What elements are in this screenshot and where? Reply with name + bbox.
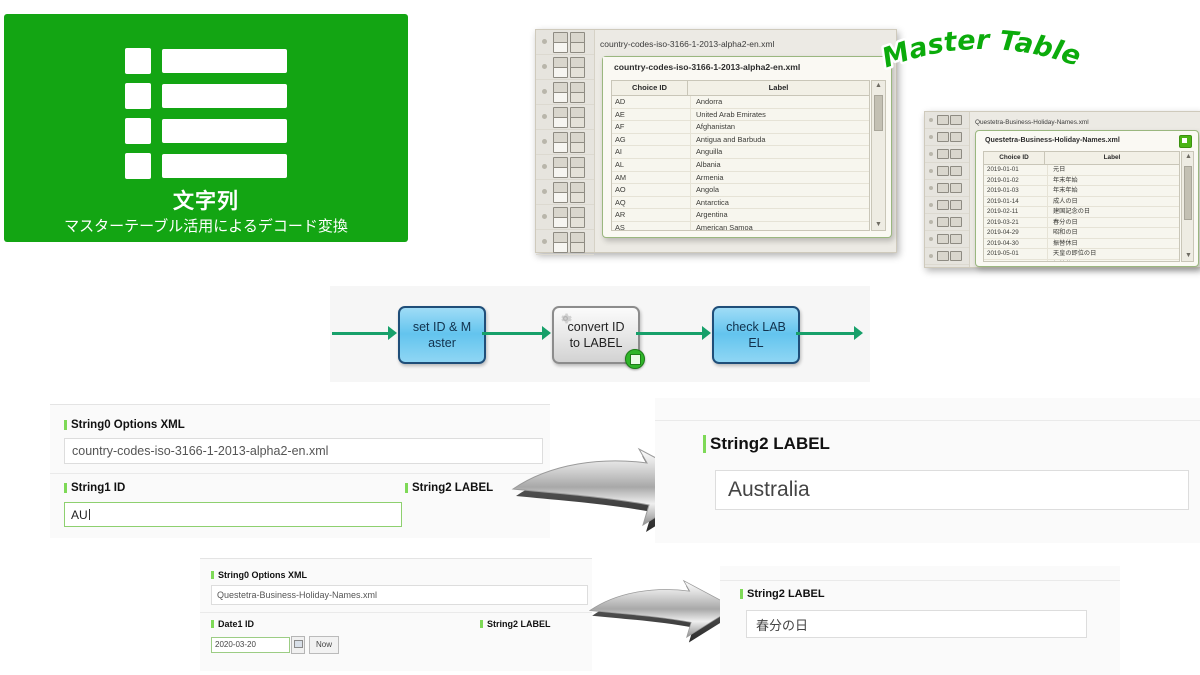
cell-choice-id: AG xyxy=(612,134,691,146)
country-result-panel: String2 LABEL Australia xyxy=(655,398,1200,543)
cell-label: Angola xyxy=(691,184,869,196)
workflow-node-convert-id-to-label[interactable]: convert ID to LABEL xyxy=(552,306,640,364)
now-button[interactable]: Now xyxy=(309,636,339,654)
workflow-node-check-label[interactable]: check LAB EL xyxy=(712,306,800,364)
list-icon xyxy=(125,48,287,188)
table-row[interactable]: AGAntigua and Barbuda xyxy=(612,134,869,147)
cell-label: 振替休日 xyxy=(1048,260,1179,263)
cell-choice-id: AM xyxy=(612,172,691,184)
transform-arrow-icon xyxy=(578,574,738,644)
cell-choice-id: 2019-01-02 xyxy=(984,176,1048,186)
cell-label: Armenia xyxy=(691,172,869,184)
holiday-form-panel: String0 Options XML Questetra-Business-H… xyxy=(200,558,592,671)
cell-choice-id: AD xyxy=(612,96,691,108)
result-string2-value: Australia xyxy=(715,470,1189,510)
result-string2-label: String2 LABEL xyxy=(703,434,830,454)
cell-label: Antarctica xyxy=(691,197,869,209)
node-label-line2: to LABEL xyxy=(554,335,638,351)
cell-label: 振替休日 xyxy=(1048,239,1179,249)
column-header-label: Label xyxy=(688,81,869,95)
cell-label: 元日 xyxy=(1048,165,1179,175)
icon-gutter xyxy=(925,112,970,267)
country-popup-title: country-codes-iso-3166-1-2013-alpha2-en.… xyxy=(603,57,891,78)
cell-label: American Samoa xyxy=(691,222,869,231)
workflow-diagram: set ID & M aster convert ID to LABEL che… xyxy=(330,286,870,382)
cell-label: Antigua and Barbuda xyxy=(691,134,869,146)
table-header-row: Choice ID Label xyxy=(984,152,1179,165)
holiday-names-window: Questetra-Business-Holiday-Names.xml Que… xyxy=(924,111,1200,268)
close-icon[interactable] xyxy=(1179,135,1192,148)
string1-id-input[interactable]: AU xyxy=(64,502,402,527)
cell-choice-id: AQ xyxy=(612,197,691,209)
table-row[interactable]: 2019-04-29昭和の日 xyxy=(984,228,1179,239)
node-label-line1: check LAB xyxy=(714,319,798,335)
date1-id-input[interactable]: 2020-03-20 xyxy=(211,637,290,653)
options-xml-value: Questetra-Business-Holiday-Names.xml xyxy=(211,585,588,605)
column-header-choice-id: Choice ID xyxy=(984,152,1045,164)
holiday-names-popup: Questetra-Business-Holiday-Names.xml Cho… xyxy=(975,130,1199,267)
table-row[interactable]: 2019-05-01天皇の即位の日 xyxy=(984,249,1179,260)
table-row[interactable]: ARArgentina xyxy=(612,209,869,222)
table-row[interactable]: 2019-01-01元日 xyxy=(984,165,1179,176)
cell-choice-id: AO xyxy=(612,184,691,196)
table-row[interactable]: 2019-01-02年末年始 xyxy=(984,176,1179,187)
holiday-window-title: Questetra-Business-Holiday-Names.xml xyxy=(971,115,1197,130)
cell-choice-id: 2019-04-30 xyxy=(984,239,1048,249)
table-row[interactable]: AIAnguilla xyxy=(612,146,869,159)
string2-label-label: String2 LABEL xyxy=(405,482,493,494)
table-row[interactable]: ASAmerican Samoa xyxy=(612,222,869,231)
table-row[interactable]: AMArmenia xyxy=(612,172,869,185)
cell-choice-id: 2019-05-01 xyxy=(984,249,1048,259)
workflow-node-set-id-master[interactable]: set ID & M aster xyxy=(398,306,486,364)
hero-panel: 文字列 マスターテーブル活用によるデコード変換 xyxy=(4,14,408,242)
table-row[interactable]: 2019-04-30振替休日 xyxy=(984,239,1179,250)
cell-label: 天皇の即位の日 xyxy=(1048,249,1179,259)
calendar-icon[interactable] xyxy=(291,636,305,654)
table-row[interactable]: AEUnited Arab Emirates xyxy=(612,109,869,122)
hero-title: 文字列 xyxy=(4,185,408,215)
table-row[interactable]: ADAndorra xyxy=(612,96,869,109)
country-window-title: country-codes-iso-3166-1-2013-alpha2-en.… xyxy=(596,34,892,54)
node-label-line2: EL xyxy=(714,335,798,351)
country-codes-table: Choice ID Label ADAndorraAEUnited Arab E… xyxy=(611,80,870,231)
cell-choice-id: AR xyxy=(612,209,691,221)
table-row[interactable]: 2019-02-11建国記念の日 xyxy=(984,207,1179,218)
holiday-popup-title: Questetra-Business-Holiday-Names.xml xyxy=(976,131,1198,149)
date1-id-field[interactable]: 2020-03-20 Now xyxy=(211,636,339,654)
service-task-badge-icon xyxy=(625,349,645,369)
cell-choice-id: 2019-01-14 xyxy=(984,197,1048,207)
holiday-names-table: Choice ID Label 2019-01-01元日2019-01-02年末… xyxy=(983,151,1180,262)
table-row[interactable]: 2019-05-02振替休日 xyxy=(984,260,1179,263)
cell-label: Andorra xyxy=(691,96,869,108)
master-table-annotation: Master Table xyxy=(882,24,1092,90)
cell-label: 年末年始 xyxy=(1048,186,1179,196)
country-codes-popup: country-codes-iso-3166-1-2013-alpha2-en.… xyxy=(602,56,892,238)
string2-label-label: String2 LABEL xyxy=(480,619,551,629)
options-xml-label: String0 Options XML xyxy=(64,419,185,431)
node-label-line2: aster xyxy=(400,335,484,351)
node-label-line1: set ID & M xyxy=(400,319,484,335)
cell-choice-id: AL xyxy=(612,159,691,171)
hero-subtitle: マスターテーブル活用によるデコード変換 xyxy=(4,215,408,236)
table-row[interactable]: AOAngola xyxy=(612,184,869,197)
options-xml-label: String0 Options XML xyxy=(211,570,307,580)
string1-id-label: String1 ID xyxy=(64,482,125,494)
date1-id-label: Date1 ID xyxy=(211,619,254,629)
table-row[interactable]: 2019-01-03年末年始 xyxy=(984,186,1179,197)
cell-label: Albania xyxy=(691,159,869,171)
holiday-table-scrollbar[interactable]: ▲▼ xyxy=(1181,151,1194,262)
table-row[interactable]: 2019-01-14成人の日 xyxy=(984,197,1179,208)
svg-text:Master Table: Master Table xyxy=(878,25,1084,74)
cell-choice-id: AE xyxy=(612,109,691,121)
cell-choice-id: 2019-04-29 xyxy=(984,228,1048,238)
cell-label: Argentina xyxy=(691,209,869,221)
result-string2-value: 春分の日 xyxy=(746,610,1087,638)
cell-label: 建国記念の日 xyxy=(1048,207,1179,217)
cell-choice-id: 2019-01-01 xyxy=(984,165,1048,175)
cell-label: Anguilla xyxy=(691,146,869,158)
table-row[interactable]: AFAfghanistan xyxy=(612,121,869,134)
cell-label: 昭和の日 xyxy=(1048,228,1179,238)
cell-label: Afghanistan xyxy=(691,121,869,133)
string1-id-value: AU xyxy=(71,508,88,522)
master-table-text: Master Table xyxy=(878,25,1084,74)
cell-label: United Arab Emirates xyxy=(691,109,869,121)
result-string2-label: String2 LABEL xyxy=(740,588,825,600)
column-header-choice-id: Choice ID xyxy=(612,81,688,95)
cell-choice-id: AS xyxy=(612,222,691,231)
cell-choice-id: 2019-03-21 xyxy=(984,218,1048,228)
country-table-scrollbar[interactable]: ▲▼ xyxy=(871,80,886,231)
master-table-screenshot-group: country-codes-iso-3166-1-2013-alpha2-en.… xyxy=(524,18,1200,278)
cell-choice-id: AI xyxy=(612,146,691,158)
cell-label: 年末年始 xyxy=(1048,176,1179,186)
table-row[interactable]: 2019-03-21春分の日 xyxy=(984,218,1179,229)
icon-gutter xyxy=(536,30,595,252)
cell-choice-id: AF xyxy=(612,121,691,133)
table-header-row: Choice ID Label xyxy=(612,81,869,96)
country-codes-window: country-codes-iso-3166-1-2013-alpha2-en.… xyxy=(535,29,897,253)
cell-label: 春分の日 xyxy=(1048,218,1179,228)
country-form-panel: String0 Options XML country-codes-iso-31… xyxy=(50,404,550,538)
holiday-result-panel: String2 LABEL 春分の日 xyxy=(720,566,1120,675)
options-xml-value: country-codes-iso-3166-1-2013-alpha2-en.… xyxy=(64,438,543,464)
cell-choice-id: 2019-02-11 xyxy=(984,207,1048,217)
table-row[interactable]: ALAlbania xyxy=(612,159,869,172)
cell-choice-id: 2019-01-03 xyxy=(984,186,1048,196)
cell-label: 成人の日 xyxy=(1048,197,1179,207)
table-row[interactable]: AQAntarctica xyxy=(612,197,869,210)
gear-icon xyxy=(558,311,573,326)
cell-choice-id: 2019-05-02 xyxy=(984,260,1048,263)
column-header-label: Label xyxy=(1045,152,1179,164)
